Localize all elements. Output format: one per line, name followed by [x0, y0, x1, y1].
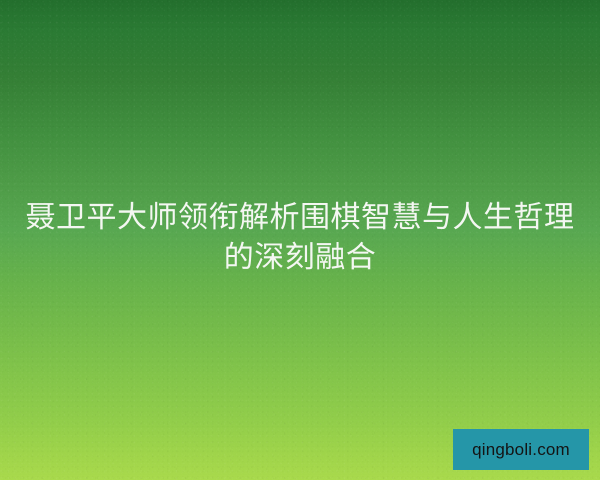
image-canvas: 聂卫平大师领衔解析围棋智慧与人生哲理 的深刻融合 qingboli.com	[0, 0, 600, 480]
headline-title: 聂卫平大师领衔解析围棋智慧与人生哲理 的深刻融合	[0, 198, 600, 278]
watermark-label: qingboli.com	[472, 441, 570, 458]
headline-line-2: 的深刻融合	[18, 238, 582, 278]
watermark-badge: qingboli.com	[453, 429, 589, 470]
headline-line-1: 聂卫平大师领衔解析围棋智慧与人生哲理	[18, 198, 582, 238]
